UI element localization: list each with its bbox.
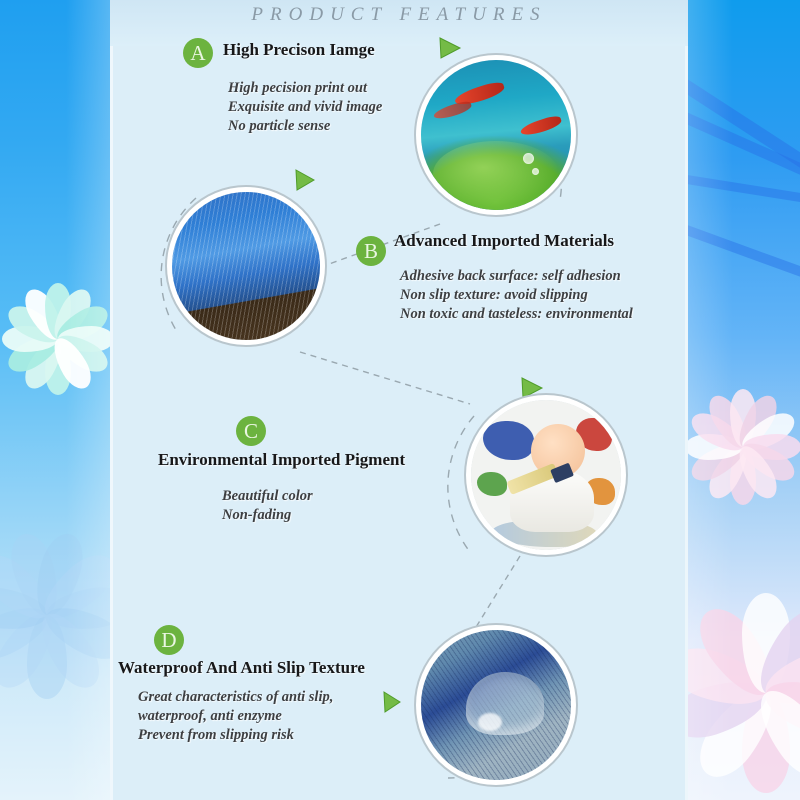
flower-petal	[27, 615, 67, 699]
feature-line: Non toxic and tasteless: environmental	[400, 305, 633, 324]
water-droplet-image	[421, 630, 571, 780]
flower-petal	[688, 670, 773, 747]
paint-splat-blue	[483, 421, 534, 460]
flower-petal	[44, 583, 110, 635]
flower-petal	[47, 284, 98, 345]
feature-line: No particle sense	[228, 117, 382, 136]
feature-body-b: Adhesive back surface: self adhesion Non…	[400, 267, 633, 324]
flower-petal	[743, 434, 800, 460]
flower-petal	[19, 333, 70, 394]
koi-fish-3	[519, 114, 563, 138]
flower-petal	[0, 597, 55, 668]
water-bubble-1	[523, 153, 534, 164]
panel-right-seam	[685, 0, 688, 800]
flower-ornament-left-lower	[0, 520, 110, 710]
feature-line: Prevent from slipping risk	[138, 726, 333, 745]
flower-petal	[688, 639, 773, 716]
flower-petal	[39, 597, 110, 668]
feature-line: Adhesive back surface: self adhesion	[400, 267, 633, 286]
baby-painting-image	[471, 400, 621, 550]
flower-petal	[758, 670, 800, 747]
flower-petal	[0, 545, 60, 630]
flower-petal	[742, 593, 790, 693]
panel-left-seam	[110, 0, 113, 800]
feature-line: waterproof, anti enzyme	[138, 707, 333, 726]
feature-heading-d: Waterproof And Anti Slip Texture	[118, 658, 365, 678]
flower-petal	[45, 283, 71, 339]
flower-petal	[34, 545, 110, 630]
flower-petal	[688, 407, 750, 459]
flower-petal	[732, 441, 784, 504]
flower-petal	[730, 447, 756, 505]
flower-petal	[3, 328, 64, 379]
feature-heading-b: Advanced Imported Materials	[394, 231, 614, 251]
flower-petal	[52, 300, 111, 351]
flower-petal	[758, 639, 800, 716]
flower-petal	[3, 300, 64, 351]
flower-petal	[688, 678, 785, 787]
flower-petal	[688, 597, 785, 706]
flower-petal	[688, 436, 750, 488]
flower-petal	[0, 604, 64, 696]
flower-petal	[730, 389, 756, 447]
feature-line: Exquisite and vivid image	[228, 98, 382, 117]
flower-petal	[45, 339, 71, 395]
feature-badge-b: B	[356, 236, 386, 266]
flower-petal	[703, 390, 755, 453]
flower-ornament-left	[0, 275, 110, 403]
flower-petal	[737, 436, 800, 488]
feature-photo-b	[172, 192, 320, 340]
feature-line: High pecision print out	[228, 79, 382, 98]
flower-petal	[30, 604, 109, 696]
feature-line: Great characteristics of anti slip,	[138, 688, 333, 707]
flower-ornament-right	[688, 382, 800, 512]
page-title: PRODUCT FEATURES	[110, 4, 688, 26]
flower-petal	[0, 583, 50, 635]
right-decorative-border	[688, 0, 800, 800]
diagonal-band-3	[688, 172, 800, 214]
flower-petal	[737, 407, 800, 459]
flower-petal	[4, 529, 66, 621]
feature-body-c: Beautiful color Non-fading	[222, 487, 313, 525]
diagonal-band-2	[688, 95, 800, 203]
diagonal-band-4	[688, 218, 800, 303]
left-decorative-border	[0, 0, 110, 800]
flower-petal	[688, 434, 743, 460]
flower-petal	[732, 390, 784, 453]
feature-badge-d: D	[154, 625, 184, 655]
feature-photo-a	[421, 60, 571, 210]
paint-splat-green	[477, 472, 507, 496]
feature-body-d: Great characteristics of anti slip, wate…	[138, 688, 333, 745]
flower-petal	[47, 333, 98, 394]
diagonal-band-1	[688, 60, 800, 196]
koi-fish-2	[432, 99, 472, 121]
flower-petal	[746, 597, 800, 706]
lilypad-highlight	[433, 141, 559, 207]
flower-petal	[52, 328, 111, 379]
feature-photo-d	[421, 630, 571, 780]
feature-body-a: High pecision print out Exquisite and vi…	[228, 79, 382, 136]
flower-petal	[703, 441, 755, 504]
product-features-infographic: PRODUCT FEATURES	[0, 0, 800, 800]
flower-petal	[58, 326, 110, 352]
flower-petal	[746, 678, 800, 787]
water-bubble-2	[532, 168, 539, 175]
feature-line: Beautiful color	[222, 487, 313, 506]
blue-fabric-image	[172, 192, 320, 340]
feature-line: Non slip texture: avoid slipping	[400, 286, 633, 305]
feature-line: Non-fading	[222, 506, 313, 525]
feature-heading-a: High Precison Iamge	[223, 40, 375, 60]
feature-badge-a: A	[183, 38, 213, 68]
flower-petal	[2, 326, 58, 352]
flower-petal	[19, 284, 70, 345]
droplet-highlight	[478, 713, 502, 731]
feature-badge-c: C	[236, 416, 266, 446]
water-droplet	[466, 672, 544, 735]
koi-pond-image	[421, 60, 571, 210]
flower-petal	[28, 529, 90, 621]
feature-heading-c: Environmental Imported Pigment	[158, 450, 405, 470]
feature-photo-c	[471, 400, 621, 550]
flower-petal	[742, 693, 790, 793]
flower-ornament-right-lower	[688, 585, 800, 800]
